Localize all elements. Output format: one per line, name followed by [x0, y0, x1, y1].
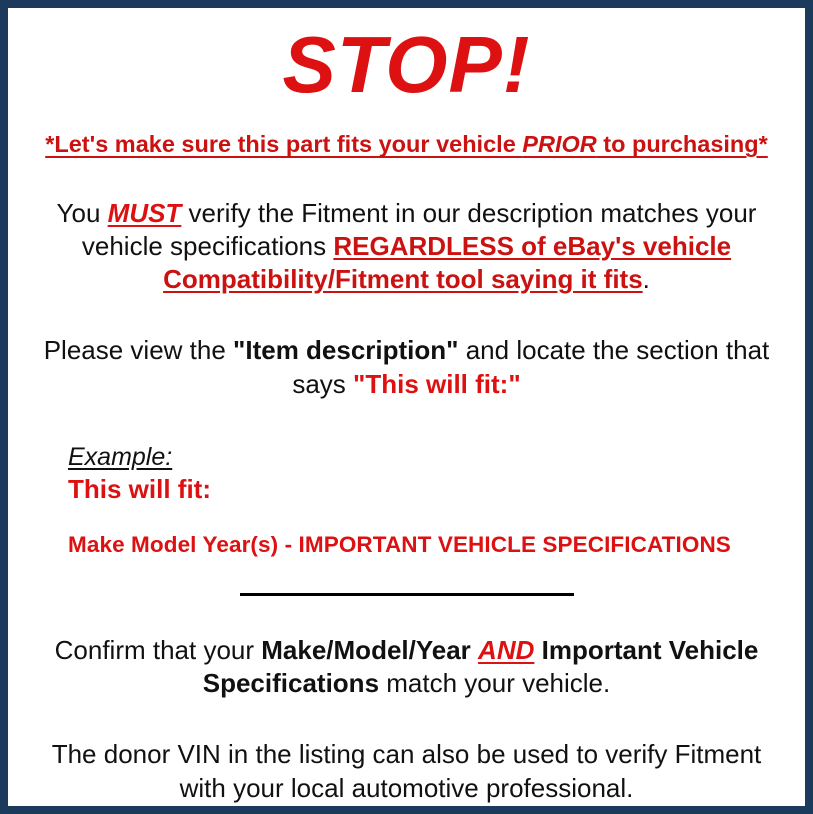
separator	[22, 586, 791, 604]
banner-emphasis-prior: PRIOR	[522, 131, 596, 157]
must-segment-3: .	[643, 264, 650, 294]
example-label: Example:	[68, 443, 172, 472]
and-emphasis: AND	[478, 635, 534, 665]
make-model-year-emphasis: Make/Model/Year	[261, 635, 471, 665]
example-block: Example: This will fit: Make Model Year(…	[22, 443, 791, 558]
view-segment-1: Please view the	[44, 335, 233, 365]
fitment-notice-card: STOP! *Let's make sure this part fits yo…	[0, 0, 813, 814]
notice-content: STOP! *Let's make sure this part fits yo…	[8, 8, 805, 806]
banner-prefix-text: *Let's make sure this part fits your veh…	[45, 131, 522, 157]
confirm-paragraph: Confirm that your Make/Model/Year AND Im…	[22, 634, 791, 701]
example-spec-line: Make Model Year(s) - IMPORTANT VEHICLE S…	[68, 531, 791, 558]
donor-vin-paragraph: The donor VIN in the listing can also be…	[22, 738, 791, 805]
must-emphasis: MUST	[108, 198, 182, 228]
banner-suffix-text: to purchasing*	[597, 131, 768, 157]
page-title: STOP!	[22, 22, 791, 108]
confirm-segment-3	[534, 635, 541, 665]
item-description-emphasis: "Item description"	[233, 335, 458, 365]
horizontal-rule	[240, 593, 574, 596]
must-verify-paragraph: You MUST verify the Fitment in our descr…	[22, 197, 791, 297]
must-segment-1: You	[57, 198, 108, 228]
fitment-banner: *Let's make sure this part fits your veh…	[22, 130, 791, 158]
confirm-segment-1: Confirm that your	[55, 635, 262, 665]
item-description-paragraph: Please view the "Item description" and l…	[22, 334, 791, 401]
confirm-section: Confirm that your Make/Model/Year AND Im…	[22, 634, 791, 701]
this-will-fit-emphasis: "This will fit:"	[353, 369, 521, 399]
confirm-segment-2	[471, 635, 478, 665]
confirm-segment-4: match your vehicle.	[379, 668, 610, 698]
example-fit-heading: This will fit:	[68, 474, 791, 505]
